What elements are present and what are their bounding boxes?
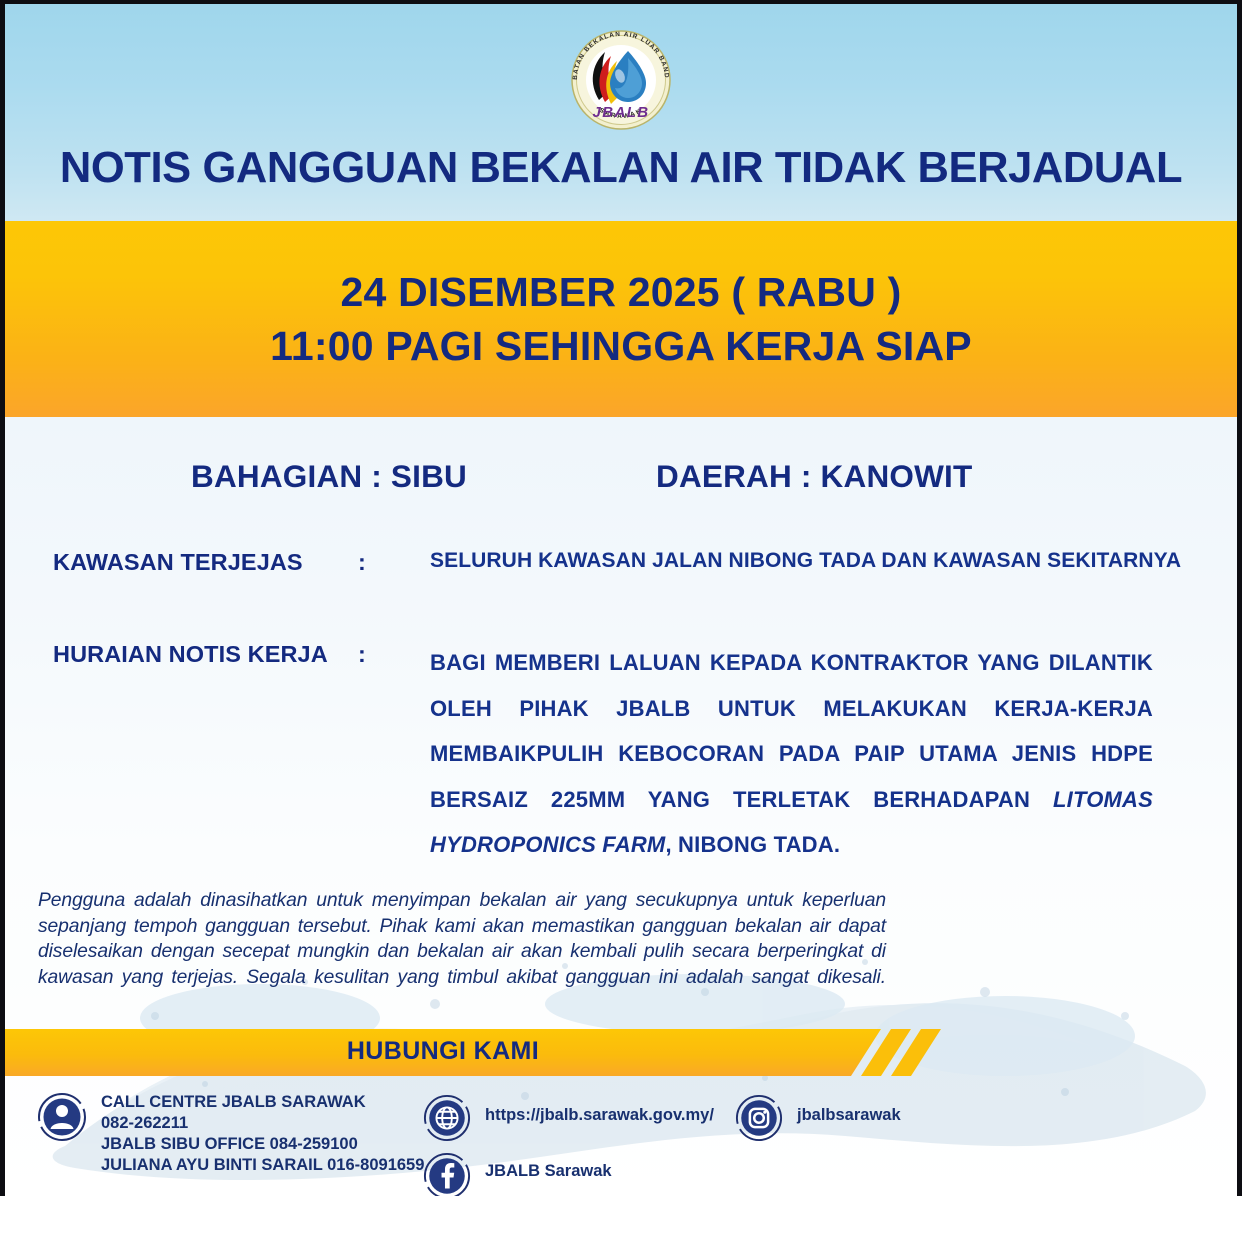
instagram-handle[interactable]: jbalbsarawak: [797, 1094, 901, 1126]
field-work-description: HURAIAN NOTIS KERJA : BAGI MEMBERI LALUA…: [5, 640, 1237, 868]
advisory-text: Pengguna adalah dinasihatkan untuk menyi…: [38, 888, 886, 991]
person-icon: [37, 1092, 87, 1142]
call-centre-name: CALL CENTRE JBALB SARAWAK: [101, 1092, 424, 1113]
poster-body: BAHAGIAN : SIBU DAERAH : KANOWIT KAWASAN…: [5, 417, 1237, 1196]
instagram-icon[interactable]: [735, 1094, 783, 1142]
work-description-part1: BAGI MEMBERI LALUAN KEPADA KONTRAKTOR YA…: [430, 650, 1153, 812]
jbalb-logo-icon: JABATAN BEKALAN AIR LUAR BANDAR SARAWAK …: [558, 18, 684, 136]
contact-instagram[interactable]: jbalbsarawak: [735, 1094, 901, 1126]
work-description-label: HURAIAN NOTIS KERJA: [53, 640, 358, 669]
call-centre-lines: CALL CENTRE JBALB SARAWAK 082-262211 JBA…: [101, 1092, 424, 1176]
globe-icon[interactable]: [423, 1094, 471, 1142]
notice-date: 24 DISEMBER 2025 ( RABU ): [341, 265, 902, 319]
affected-area-value: SELURUH KAWASAN JALAN NIBONG TADA DAN KA…: [430, 548, 1181, 574]
page-title: NOTIS GANGGUAN BEKALAN AIR TIDAK BERJADU…: [5, 147, 1237, 191]
contact-footer: CALL CENTRE JBALB SARAWAK 082-262211 JBA…: [5, 1084, 1237, 1196]
date-time-band: 24 DISEMBER 2025 ( RABU ) 11:00 PAGI SEH…: [5, 221, 1237, 417]
contact-banner-title: HUBUNGI KAMI: [5, 1037, 881, 1066]
call-centre-phone: 082-262211: [101, 1113, 424, 1134]
work-description-value: BAGI MEMBERI LALUAN KEPADA KONTRAKTOR YA…: [430, 640, 1153, 868]
contact-facebook[interactable]: JBALB Sarawak: [423, 1152, 612, 1182]
region-row: BAHAGIAN : SIBU DAERAH : KANOWIT: [5, 458, 1237, 495]
sibu-office-phone: JBALB SIBU OFFICE 084-259100: [101, 1134, 424, 1155]
contact-website[interactable]: https://jbalb.sarawak.gov.my/: [423, 1094, 714, 1126]
contact-call-centre: CALL CENTRE JBALB SARAWAK 082-262211 JBA…: [37, 1092, 424, 1176]
district-label: DAERAH : KANOWIT: [656, 458, 972, 495]
facebook-page[interactable]: JBALB Sarawak: [485, 1152, 612, 1182]
svg-text:JBALB: JBALB: [592, 104, 649, 121]
website-url[interactable]: https://jbalb.sarawak.gov.my/: [485, 1094, 714, 1126]
jbalb-logo: JABATAN BEKALAN AIR LUAR BANDAR SARAWAK …: [558, 18, 684, 136]
facebook-icon[interactable]: [423, 1152, 471, 1196]
field-affected-area: KAWASAN TERJEJAS : SELURUH KAWASAN JALAN…: [5, 548, 1237, 577]
work-description-colon: :: [358, 640, 430, 669]
notice-poster: JABATAN BEKALAN AIR LUAR BANDAR SARAWAK …: [0, 0, 1242, 1196]
officer-phone: JULIANA AYU BINTI SARAIL 016-8091659: [101, 1155, 424, 1176]
division-label: BAHAGIAN : SIBU: [191, 458, 656, 495]
work-description-part2: , NIBONG TADA.: [665, 832, 840, 857]
affected-area-label: KAWASAN TERJEJAS: [53, 548, 358, 577]
poster-header: JABATAN BEKALAN AIR LUAR BANDAR SARAWAK …: [5, 4, 1237, 221]
affected-area-colon: :: [358, 548, 430, 577]
notice-time: 11:00 PAGI SEHINGGA KERJA SIAP: [270, 319, 972, 373]
